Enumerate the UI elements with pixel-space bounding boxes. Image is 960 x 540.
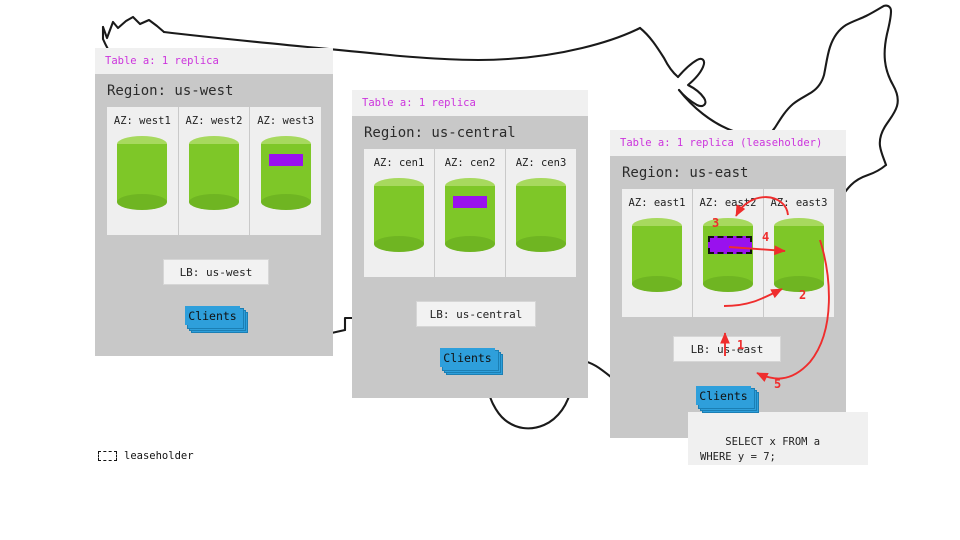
range-block-west3 <box>269 154 303 166</box>
cylinder-bottom <box>516 236 566 252</box>
az-cell-cen1[interactable]: AZ: cen1 <box>364 149 434 277</box>
region-panel-us-central: Table a: 1 replica Region: us-central AZ… <box>352 90 588 398</box>
legend-leaseholder: leaseholder <box>98 450 194 462</box>
clients-us-east[interactable]: Clients <box>696 386 758 412</box>
cylinder-bottom <box>189 194 239 210</box>
replica-cylinder-east1[interactable] <box>632 218 682 292</box>
panel-header-us-east: Table a: 1 replica (leaseholder) <box>610 130 846 156</box>
az-label: AZ: cen3 <box>516 157 567 169</box>
cylinder-bottom <box>117 194 167 210</box>
replica-cylinder-cen2[interactable] <box>445 178 495 252</box>
load-balancer-us-west[interactable]: LB: us-west <box>163 259 269 285</box>
panel-header-us-central: Table a: 1 replica <box>352 90 588 116</box>
clients-label: Clients <box>699 389 747 403</box>
table-replica-label: Table a: 1 replica <box>362 97 476 109</box>
cylinder-bottom <box>703 276 753 292</box>
table-replica-label: Table a: 1 replica <box>105 55 219 67</box>
sql-query-box: SELECT x FROM a WHERE y = 7; <box>688 412 868 465</box>
region-panel-us-west: Table a: 1 replica Region: us-west AZ: w… <box>95 48 333 356</box>
cylinder-bottom <box>374 236 424 252</box>
replica-cylinder-east3[interactable] <box>774 218 824 292</box>
arrow-step-number-1: 1 <box>737 338 744 352</box>
replica-cylinder-west3[interactable] <box>261 136 311 210</box>
az-label: AZ: cen1 <box>374 157 425 169</box>
clients-us-central[interactable]: Clients <box>440 348 502 374</box>
region-title: Region: us-east <box>610 156 846 189</box>
az-label: AZ: west2 <box>186 115 243 127</box>
clients-label: Clients <box>443 351 491 365</box>
replica-cylinder-east2[interactable] <box>703 218 753 292</box>
legend-label: leaseholder <box>124 450 194 462</box>
cylinder-bottom <box>632 276 682 292</box>
cylinder-bottom <box>445 236 495 252</box>
az-cell-west1[interactable]: AZ: west1 <box>107 107 178 235</box>
arrow-step-number-3: 3 <box>712 216 719 230</box>
clients-us-west[interactable]: Clients <box>185 306 247 332</box>
leaseholder-swatch-icon <box>98 451 117 461</box>
arrow-step-number-2: 2 <box>799 288 806 302</box>
lb-label: LB: us-east <box>691 343 764 356</box>
arrow-step-number-4: 4 <box>762 230 769 244</box>
panel-body-us-west: Region: us-west AZ: west1 AZ: west2 <box>95 74 333 356</box>
load-balancer-us-central[interactable]: LB: us-central <box>416 301 536 327</box>
az-label: AZ: cen2 <box>445 157 496 169</box>
lb-label: LB: us-central <box>430 308 523 321</box>
az-cell-east1[interactable]: AZ: east1 <box>622 189 692 317</box>
az-label: AZ: east3 <box>771 197 828 209</box>
clients-label: Clients <box>188 309 236 323</box>
panel-body-us-central: Region: us-central AZ: cen1 AZ: cen2 <box>352 116 588 398</box>
diagram-canvas: Table a: 1 replica Region: us-west AZ: w… <box>0 0 960 540</box>
range-block-cen2 <box>453 196 487 208</box>
replica-cylinder-west1[interactable] <box>117 136 167 210</box>
lb-label: LB: us-west <box>180 266 253 279</box>
clients-face[interactable]: Clients <box>696 386 751 405</box>
load-balancer-us-east[interactable]: LB: us-east <box>673 336 781 362</box>
az-label: AZ: west3 <box>257 115 314 127</box>
leaseholder-block-east2 <box>708 236 752 254</box>
region-panel-us-east: Table a: 1 replica (leaseholder) Region:… <box>610 130 846 438</box>
panel-body-us-east: Region: us-east AZ: east1 AZ: east2 <box>610 156 846 438</box>
region-title: Region: us-west <box>95 74 333 107</box>
region-title: Region: us-central <box>352 116 588 149</box>
arrow-step-number-5: 5 <box>774 377 781 391</box>
az-strip-us-central: AZ: cen1 AZ: cen2 <box>364 149 576 277</box>
replica-cylinder-west2[interactable] <box>189 136 239 210</box>
clients-face[interactable]: Clients <box>185 306 240 325</box>
az-cell-west3[interactable]: AZ: west3 <box>249 107 321 235</box>
sql-text: SELECT x FROM a WHERE y = 7; <box>700 436 820 463</box>
replica-cylinder-cen1[interactable] <box>374 178 424 252</box>
az-cell-cen3[interactable]: AZ: cen3 <box>505 149 576 277</box>
az-label: AZ: east2 <box>700 197 757 209</box>
az-cell-west2[interactable]: AZ: west2 <box>178 107 250 235</box>
table-replica-label: Table a: 1 replica (leaseholder) <box>620 137 822 149</box>
panel-header-us-west: Table a: 1 replica <box>95 48 333 74</box>
clients-face[interactable]: Clients <box>440 348 495 367</box>
az-cell-cen2[interactable]: AZ: cen2 <box>434 149 505 277</box>
az-label: AZ: west1 <box>114 115 171 127</box>
cylinder-bottom <box>261 194 311 210</box>
az-cell-east2[interactable]: AZ: east2 <box>692 189 763 317</box>
az-strip-us-west: AZ: west1 AZ: west2 AZ <box>107 107 321 235</box>
az-label: AZ: east1 <box>629 197 686 209</box>
replica-cylinder-cen3[interactable] <box>516 178 566 252</box>
